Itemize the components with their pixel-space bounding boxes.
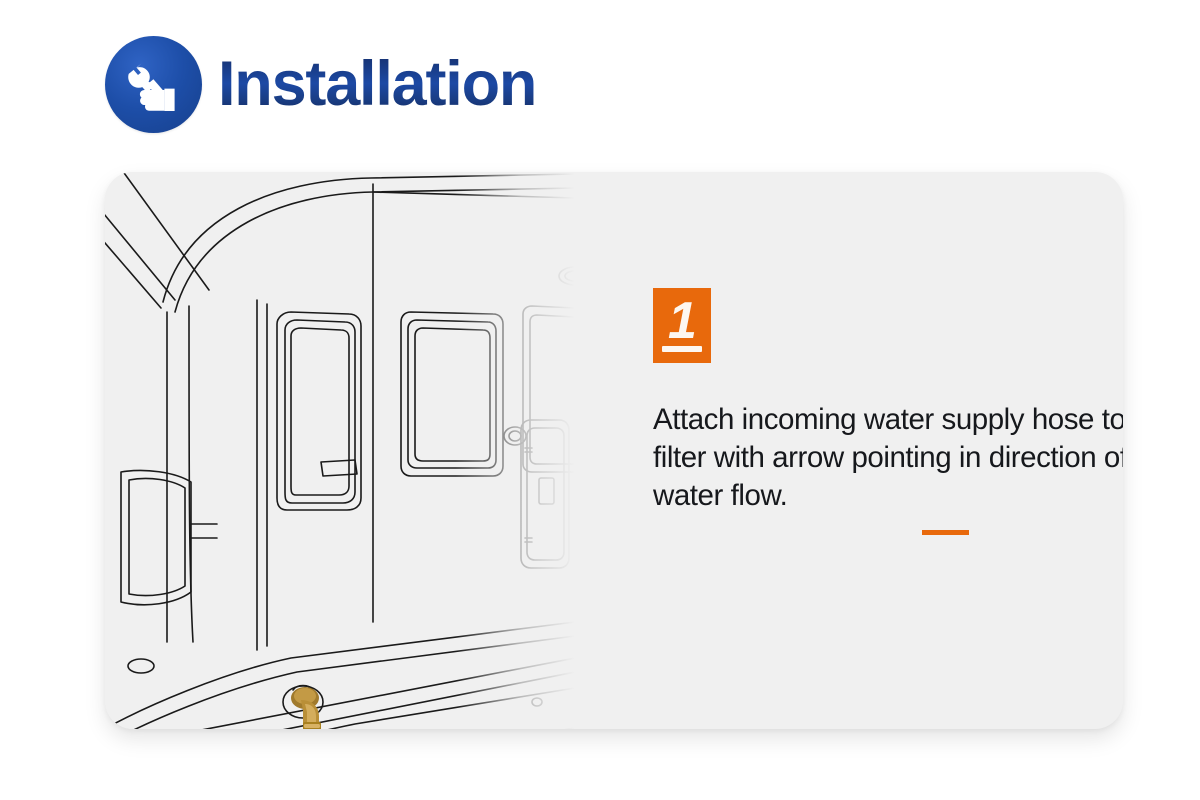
brass-elbow-fitting [291,687,321,729]
rv-water-filter-illustration [105,172,575,729]
step-content: 1 Attach incoming water supply hose to f… [575,172,1123,729]
page-header: Installation [105,36,536,133]
step-number: 1 [668,295,696,347]
installation-step-card: 1 Attach incoming water supply hose to f… [105,172,1123,729]
step-number-badge: 1 [653,288,711,363]
step-instruction-text: Attach incoming water supply hose to fil… [653,401,1123,515]
accent-dash [922,530,969,535]
page-title: Installation [218,53,536,116]
step-number-underline [662,346,702,352]
installation-step-page: Installation [0,0,1200,800]
wrench-in-hand-icon [105,36,202,133]
